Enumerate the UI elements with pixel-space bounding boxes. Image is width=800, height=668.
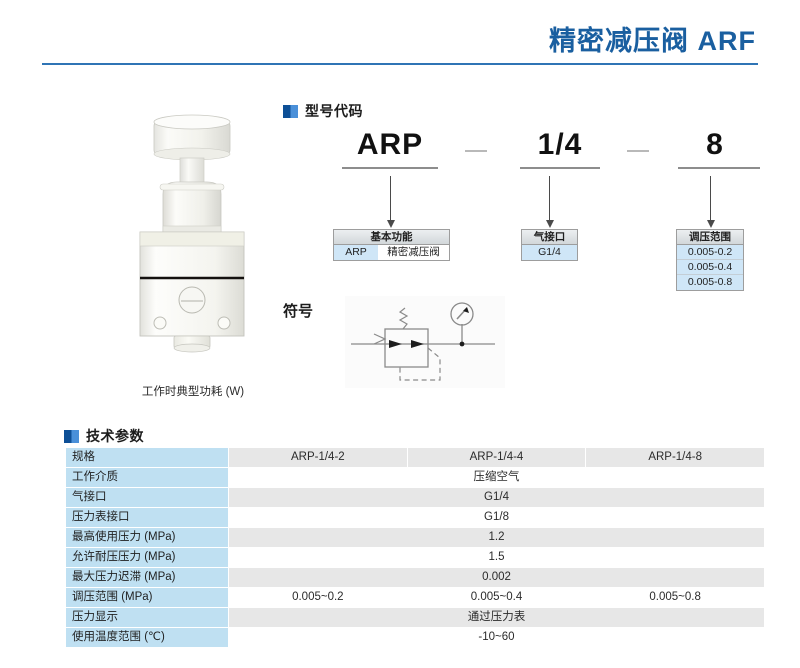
row-value: 0.005~0.2 (229, 588, 408, 608)
table-row: 调压范围 (MPa) 0.005~0.2 0.005~0.4 0.005~0.8 (66, 588, 765, 608)
row-label: 最大压力迟滞 (MPa) (66, 568, 229, 588)
model-code-arrow-1 (390, 176, 391, 221)
row-value: ARP-1/4-2 (229, 448, 408, 468)
legend-row: 0.005-0.4 (677, 260, 743, 275)
header-divider (42, 63, 758, 65)
row-label: 最高使用压力 (MPa) (66, 528, 229, 548)
row-label: 使用温度范围 (℃) (66, 628, 229, 648)
row-label: 压力表接口 (66, 508, 229, 528)
legend-base-function-title: 基本功能 (334, 230, 449, 245)
row-value: -10~60 (229, 628, 765, 648)
legend-row: 0.005-0.2 (677, 245, 743, 260)
row-value: G1/4 (229, 488, 765, 508)
product-caption: 工作时典型功耗 (W) (88, 383, 298, 399)
model-code-heading: 型号代码 (283, 101, 363, 121)
table-row: 最高使用压力 (MPa) 1.2 (66, 528, 765, 548)
page-header: 精密减压阀 ARF (0, 0, 800, 66)
legend-desc: 精密减压阀 (378, 245, 449, 260)
model-code-separator-2 (627, 150, 649, 152)
model-code-row: ARP 1/4 8 (330, 126, 760, 174)
legend-air-port-title: 气接口 (522, 230, 577, 245)
table-row: 使用温度范围 (℃) -10~60 (66, 628, 765, 648)
legend-row: 0.005-0.8 (677, 275, 743, 290)
row-label: 压力显示 (66, 608, 229, 628)
product-spec-page: 精密减压阀 ARF (0, 0, 800, 668)
model-code-underline-2 (520, 167, 600, 169)
model-code-underline-1 (342, 167, 438, 169)
row-value: 1.5 (229, 548, 765, 568)
section-marker-icon (283, 105, 298, 118)
model-code-segment-base: ARP (330, 126, 450, 164)
row-value: G1/8 (229, 508, 765, 528)
legend-code: 0.005-0.4 (677, 260, 743, 274)
row-label: 气接口 (66, 488, 229, 508)
spec-heading-text: 技术参数 (86, 426, 144, 446)
table-row: 允许耐压压力 (MPa) 1.5 (66, 548, 765, 568)
row-label: 允许耐压压力 (MPa) (66, 548, 229, 568)
legend-code: 0.005-0.2 (677, 245, 743, 259)
legend-code: 0.005-0.8 (677, 275, 743, 290)
row-value: 0.002 (229, 568, 765, 588)
section-marker-icon (64, 430, 79, 443)
model-code-underline-3 (678, 167, 760, 169)
table-row: 压力表接口 G1/8 (66, 508, 765, 528)
row-value: 通过压力表 (229, 608, 765, 628)
legend-code: G1/4 (522, 245, 577, 260)
legend-air-port: 气接口 G1/4 (521, 229, 578, 261)
row-value: 0.005~0.8 (586, 588, 765, 608)
model-code-separator-1 (465, 150, 487, 152)
product-image (108, 108, 278, 378)
legend-code: ARP (334, 245, 378, 260)
row-value: ARP-1/4-8 (586, 448, 765, 468)
spec-table-wrapper: 规格 ARP-1/4-2 ARP-1/4-4 ARP-1/4-8 工作介质 压缩… (65, 447, 765, 648)
legend-pressure-range-title: 调压范围 (677, 230, 743, 245)
legend-pressure-range: 调压范围 0.005-0.2 0.005-0.4 0.005-0.8 (676, 229, 744, 291)
model-code-arrow-2 (549, 176, 550, 221)
row-value: 压缩空气 (229, 468, 765, 488)
row-value: 1.2 (229, 528, 765, 548)
table-row: 压力显示 通过压力表 (66, 608, 765, 628)
symbol-label: 符号 (283, 300, 313, 321)
row-value: ARP-1/4-4 (407, 448, 586, 468)
legend-row: G1/4 (522, 245, 577, 260)
legend-base-function: 基本功能 ARP 精密减压阀 (333, 229, 450, 261)
table-row: 工作介质 压缩空气 (66, 468, 765, 488)
spec-table: 规格 ARP-1/4-2 ARP-1/4-4 ARP-1/4-8 工作介质 压缩… (65, 447, 765, 648)
model-code-segment-range: 8 (670, 126, 760, 164)
row-value: 0.005~0.4 (407, 588, 586, 608)
row-label: 工作介质 (66, 468, 229, 488)
table-row: 气接口 G1/4 (66, 488, 765, 508)
table-row: 最大压力迟滞 (MPa) 0.002 (66, 568, 765, 588)
row-label: 调压范围 (MPa) (66, 588, 229, 608)
page-title: 精密减压阀 ARF (549, 19, 756, 58)
symbol-diagram (345, 296, 505, 388)
model-code-heading-text: 型号代码 (305, 101, 363, 121)
spec-heading: 技术参数 (64, 426, 144, 446)
model-code-segment-port: 1/4 (510, 126, 610, 164)
row-label: 规格 (66, 448, 229, 468)
table-row: 规格 ARP-1/4-2 ARP-1/4-4 ARP-1/4-8 (66, 448, 765, 468)
model-code-arrow-3 (710, 176, 711, 221)
legend-row: ARP 精密减压阀 (334, 245, 449, 260)
